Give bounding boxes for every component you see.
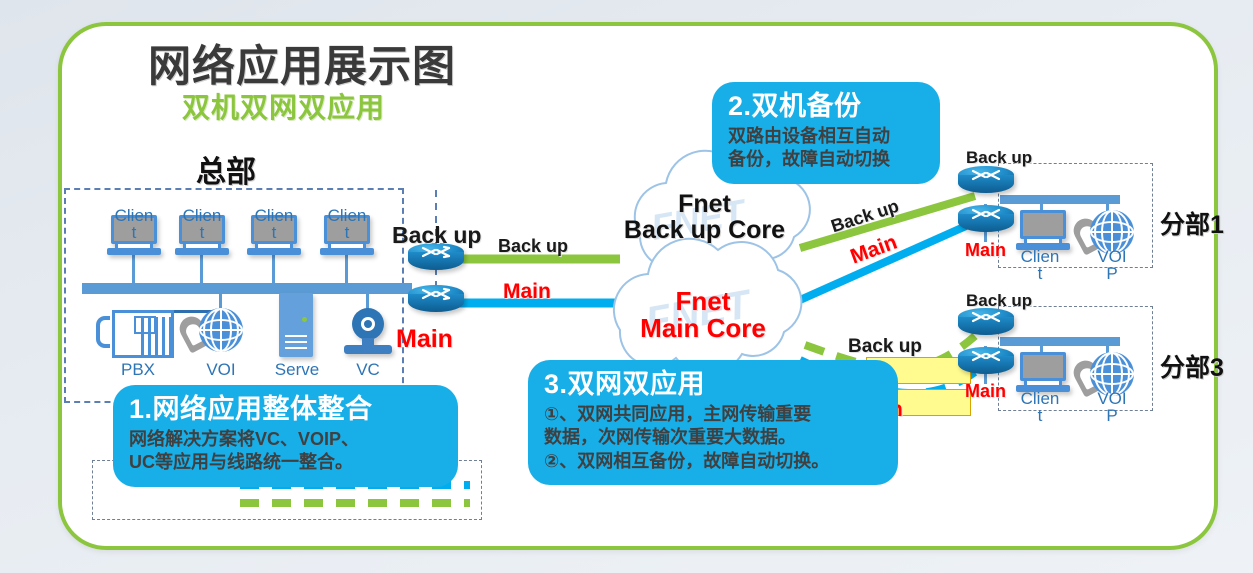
backup-core-line1: Fnet <box>678 190 731 218</box>
pbx-slot <box>155 317 158 357</box>
branch1-name: 分部1 <box>1160 205 1224 241</box>
globe-parallel <box>1090 363 1134 385</box>
pbx-slot <box>169 317 172 357</box>
branch3-backup-link-label: Back up <box>848 336 922 358</box>
globe-meridian <box>203 308 239 352</box>
callout-3-body-line-2: 数据，次网传输次重要大数据。 <box>544 426 882 449</box>
link-layer: FNET FNET <box>0 0 1253 573</box>
branch1-router-main <box>958 205 1014 239</box>
voip-label-line2: P <box>1106 406 1117 425</box>
laptop-screen <box>1020 210 1066 239</box>
branch1-router-backup-label: Back up <box>966 148 1032 168</box>
camera-base <box>344 345 392 354</box>
callout-3-body: ①、双网共同应用，主网传输重要 数据，次网传输次重要大数据。 ②、双网相互备份，… <box>544 403 882 473</box>
client-label-line2: t <box>1038 406 1043 425</box>
callout-1-body-line-2: UC等应用与线路统一整合。 <box>129 451 442 474</box>
server-led <box>302 317 307 322</box>
client-label-line2: t <box>345 223 350 242</box>
router-arrows-icon <box>971 168 1001 182</box>
hq-main-link-label: Main <box>503 280 551 304</box>
vc-label: VC <box>341 360 395 380</box>
pbx-handset <box>96 316 110 348</box>
branch3-client-laptop <box>1016 352 1070 392</box>
hq-backup-link-label: Back up <box>498 236 568 257</box>
callout-1-body-line-1: 网络解决方案将VC、VOIP、 <box>129 428 442 451</box>
callout-2-body-line-2: 备份，故障自动切换 <box>728 148 924 171</box>
laptop-base <box>107 248 161 255</box>
voip-globe-icon <box>199 308 243 352</box>
diagram-stage: 网络应用展示图 双机双网双应用 总部 <box>0 0 1253 573</box>
backup-core-label: Fnet Back up Core <box>612 192 797 243</box>
camera-lens <box>352 308 384 340</box>
branch3-router-backup <box>958 308 1014 342</box>
pbx-slot <box>148 317 151 357</box>
server-icon <box>279 293 313 357</box>
branch1-client-laptop <box>1016 210 1070 250</box>
client-label-line2: t <box>1038 264 1043 283</box>
laptop-screen <box>1020 352 1066 381</box>
branch3-name: 分部3 <box>1160 348 1224 384</box>
server-vent <box>285 335 307 337</box>
router-arrows-icon <box>971 207 1001 221</box>
branch1-router-main-label: Main <box>965 240 1006 261</box>
callout-1-heading: 1.网络应用整体整合 <box>129 394 442 426</box>
branch3-router-main-label: Main <box>965 381 1006 402</box>
callout-2[interactable]: 2.双机备份 双路由设备相互自动 备份，故障自动切换 <box>712 82 940 184</box>
main-core-line2: Main Core <box>640 313 766 343</box>
pbx-label: PBX <box>110 360 166 380</box>
pbx-panel <box>134 316 156 334</box>
router-arrows-icon <box>971 310 1001 324</box>
callout-2-body-line-1: 双路由设备相互自动 <box>728 125 924 148</box>
branch3-voip-label: VOI P <box>1086 390 1138 424</box>
router-arrows-icon <box>421 287 451 301</box>
laptop-base <box>320 248 374 255</box>
client-label-line2: t <box>200 223 205 242</box>
globe-parallel <box>199 319 243 341</box>
callout-3-body-line-1: ①、双网共同应用，主网传输重要 <box>544 403 882 426</box>
video-camera-icon <box>344 308 392 356</box>
hq-client-label-3: Clien t <box>248 207 300 241</box>
voip-label: VOI <box>193 360 249 380</box>
branch1-router-backup <box>958 166 1014 200</box>
callout-2-body: 双路由设备相互自动 备份，故障自动切换 <box>728 125 924 172</box>
hq-bus <box>82 283 412 294</box>
callout-3[interactable]: 3.双网双应用 ①、双网共同应用，主网传输重要 数据，次网传输次重要大数据。 ②… <box>528 360 898 485</box>
branch1-client-label: Clien t <box>1014 248 1066 282</box>
laptop-base <box>247 248 301 255</box>
callout-1[interactable]: 1.网络应用整体整合 网络解决方案将VC、VOIP、 UC等应用与线路统一整合。 <box>113 385 458 487</box>
client-label-line2: t <box>132 223 137 242</box>
hq-router-backup-label: Back up <box>392 222 481 249</box>
pbx-icon <box>96 310 174 358</box>
laptop-base <box>175 248 229 255</box>
router-arrows-icon <box>971 349 1001 363</box>
callout-3-heading: 3.双网双应用 <box>544 369 882 401</box>
server-label: Serve <box>266 360 328 380</box>
callout-3-body-line-3: ②、双网相互备份，故障自动切换。 <box>544 450 882 473</box>
main-core-label: Fnet Main Core <box>608 288 798 341</box>
pbx-body <box>112 310 174 358</box>
hq-client-label-1: Clien t <box>108 207 160 241</box>
voip-label-line2: P <box>1106 264 1117 283</box>
hq-router-main <box>408 285 464 319</box>
client-label-line2: t <box>272 223 277 242</box>
server-vent <box>285 347 307 349</box>
branch1-voip-label: VOI P <box>1086 248 1138 282</box>
hq-client-label-2: Clien t <box>176 207 228 241</box>
globe-parallel <box>1090 221 1134 243</box>
main-core-line1: Fnet <box>676 286 731 316</box>
hq-client-label-4: Clien t <box>321 207 373 241</box>
server-vent <box>285 341 307 343</box>
pbx-slot <box>141 317 144 357</box>
pbx-slot <box>162 317 165 357</box>
callout-1-body: 网络解决方案将VC、VOIP、 UC等应用与线路统一整合。 <box>129 428 442 475</box>
branch3-client-label: Clien t <box>1014 390 1066 424</box>
branch3-router-main <box>958 347 1014 381</box>
backup-core-line2: Back up Core <box>624 216 785 244</box>
hq-router-main-label: Main <box>396 325 453 354</box>
callout-2-heading: 2.双机备份 <box>728 91 924 123</box>
branch3-router-backup-label: Back up <box>966 291 1032 311</box>
